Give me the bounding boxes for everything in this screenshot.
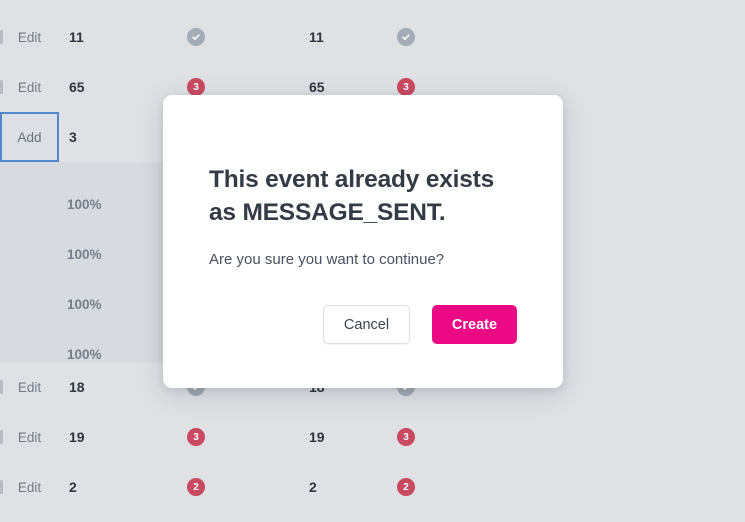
status-check-icon-left (187, 28, 205, 46)
edit-cell-button[interactable]: Edit (0, 412, 59, 462)
edit-cell-button[interactable]: Edit (0, 62, 59, 112)
confirmation-dialog: This event already exists as MESSAGE_SEN… (163, 95, 563, 388)
status-badge-left: 2 (187, 478, 205, 496)
edit-cell-button[interactable]: Edit (0, 362, 59, 412)
status-badge-left: 3 (187, 428, 205, 446)
value-cell-left: 19 (69, 429, 189, 445)
value-cell-left: 11 (69, 29, 189, 45)
add-cell-button[interactable]: Add (0, 112, 59, 162)
cancel-button[interactable]: Cancel (323, 305, 410, 344)
dialog-title: This event already exists as MESSAGE_SEN… (209, 95, 517, 229)
edit-cell-button[interactable]: Edit (0, 12, 59, 62)
value-cell-left: 2 (69, 479, 189, 495)
table-row: Edit193193 (0, 412, 745, 462)
status-check-icon-right (397, 28, 415, 46)
status-badge-right: 2 (397, 478, 415, 496)
dialog-message: Are you sure you want to continue? (209, 229, 517, 271)
value-cell-left: 65 (69, 79, 189, 95)
status-badge-right: 3 (397, 78, 415, 96)
edit-cell-button[interactable]: Edit (0, 462, 59, 512)
status-badge-right: 3 (397, 428, 415, 446)
table-row: Edit1111 (0, 12, 745, 62)
dialog-actions: Cancel Create (323, 305, 517, 344)
table-row: Edit2222 (0, 462, 745, 512)
status-badge-left: 3 (187, 78, 205, 96)
create-button[interactable]: Create (432, 305, 517, 344)
